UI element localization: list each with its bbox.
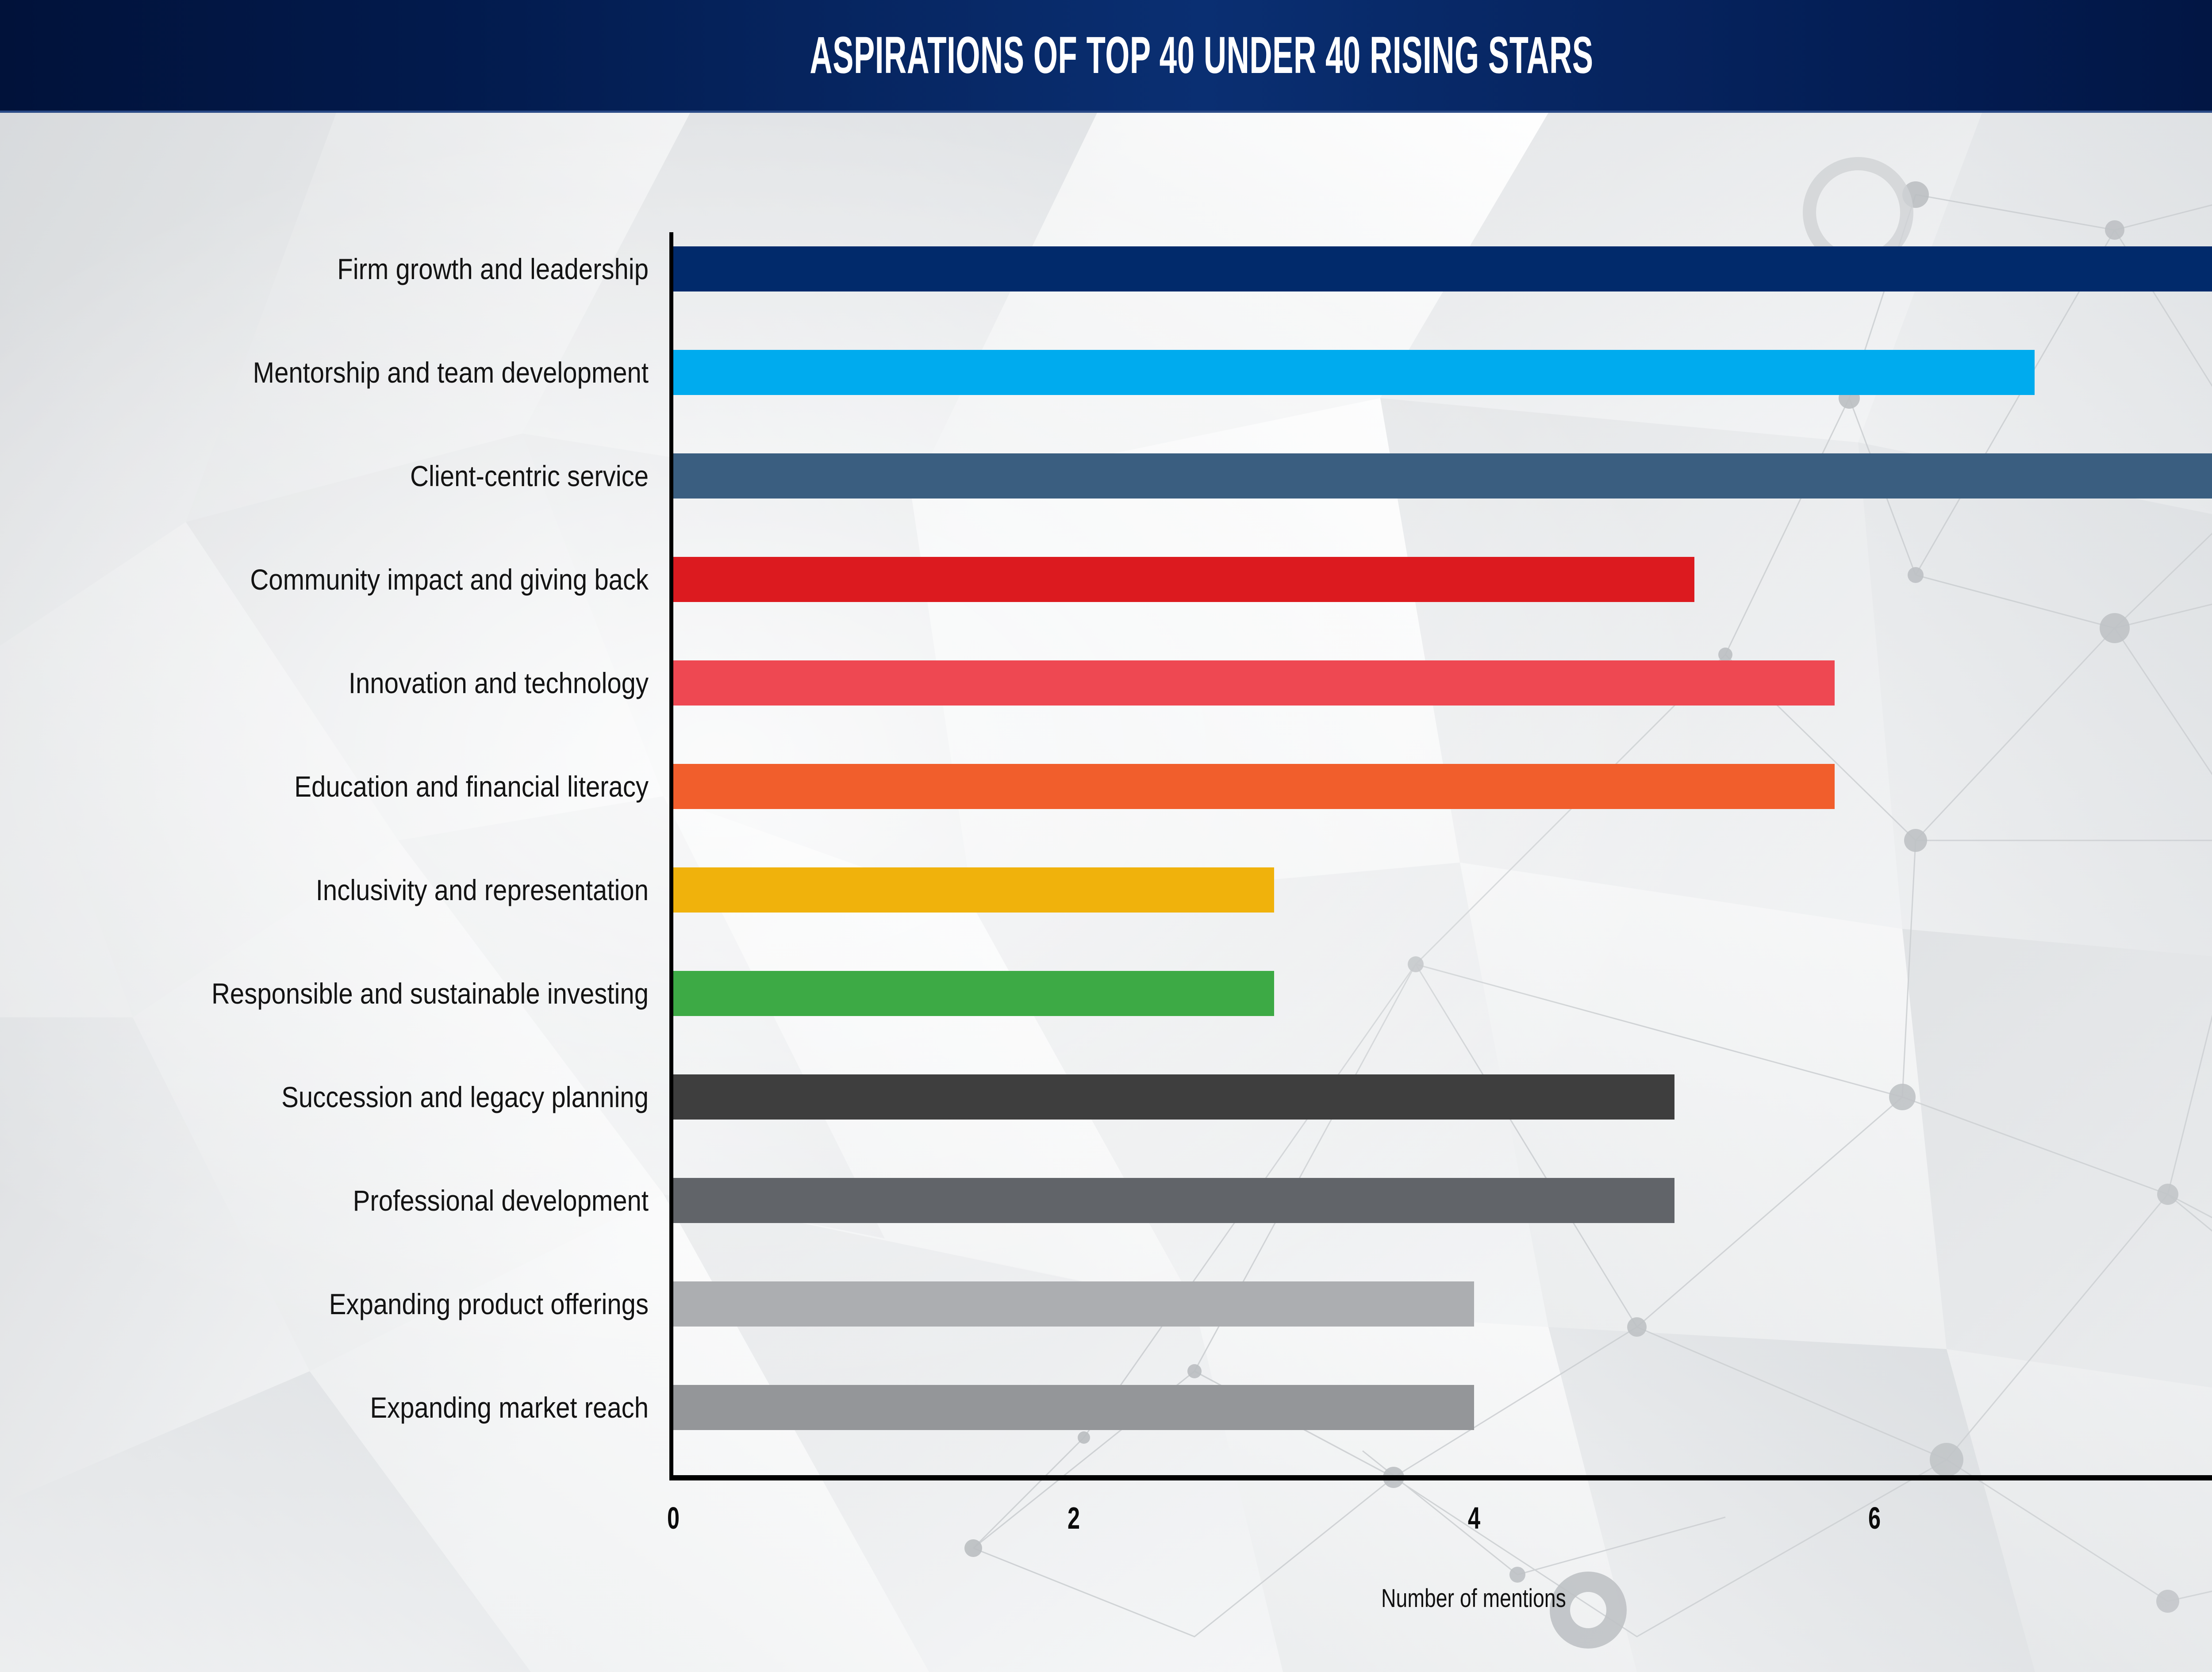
bar-row: Professional development	[673, 1166, 2212, 1269]
page-title: ASPIRATIONS OF TOP 40 UNDER 40 RISING ST…	[810, 25, 1594, 85]
bar-row: Innovation and technology	[673, 648, 2212, 752]
bar-row: Community impact and giving back	[673, 545, 2212, 648]
y-axis-category-label: Mentorship and team development	[84, 350, 649, 395]
bar	[673, 1178, 1674, 1223]
y-axis-category-label: Innovation and technology	[84, 660, 649, 706]
bar	[673, 1385, 1474, 1430]
bar	[673, 246, 2212, 291]
header-band: ASPIRATIONS OF TOP 40 UNDER 40 RISING ST…	[0, 0, 2212, 113]
chart-axes: Firm growth and leadershipMentorship and…	[673, 234, 2212, 1475]
bar	[673, 867, 1274, 913]
y-axis-category-label: Inclusivity and representation	[84, 867, 649, 913]
bar-row: Expanding market reach	[673, 1373, 2212, 1476]
bar-chart: Firm growth and leadershipMentorship and…	[0, 113, 2212, 1672]
bar-row: Firm growth and leadership	[673, 234, 2212, 338]
slide-canvas: ASPIRATIONS OF TOP 40 UNDER 40 RISING ST…	[0, 0, 2212, 1672]
bar-row: Mentorship and team development	[673, 338, 2212, 441]
bar-row: Succession and legacy planning	[673, 1062, 2212, 1166]
bar-row: Responsible and sustainable investing	[673, 959, 2212, 1062]
y-axis-category-label: Client-centric service	[84, 453, 649, 499]
bar	[673, 557, 1694, 602]
y-axis-category-label: Expanding product offerings	[84, 1281, 649, 1327]
y-axis-category-label: Firm growth and leadership	[84, 246, 649, 291]
y-axis-category-label: Responsible and sustainable investing	[84, 971, 649, 1016]
bar	[673, 971, 1274, 1016]
bar	[673, 1281, 1474, 1327]
x-axis-tick: 6	[1868, 1500, 1881, 1536]
bar-row: Education and financial literacy	[673, 752, 2212, 855]
bar-row: Inclusivity and representation	[673, 855, 2212, 959]
x-axis-tick: 4	[1468, 1500, 1480, 1536]
y-axis-spine	[669, 232, 673, 1477]
x-axis-title: Number of mentions	[1381, 1584, 1566, 1613]
y-axis-category-label: Expanding market reach	[84, 1385, 649, 1430]
bar	[673, 1074, 1674, 1120]
bar-row: Expanding product offerings	[673, 1269, 2212, 1373]
bar	[673, 660, 1835, 706]
bar-row: Client-centric service	[673, 441, 2212, 545]
bar	[673, 453, 2212, 499]
y-axis-category-label: Community impact and giving back	[84, 557, 649, 602]
bar	[673, 764, 1835, 809]
y-axis-category-label: Education and financial literacy	[84, 764, 649, 809]
x-axis-tick: 0	[667, 1500, 680, 1536]
y-axis-category-label: Succession and legacy planning	[84, 1074, 649, 1120]
x-axis-tick: 2	[1068, 1500, 1080, 1536]
y-axis-category-label: Professional development	[84, 1178, 649, 1223]
bar	[673, 350, 2035, 395]
